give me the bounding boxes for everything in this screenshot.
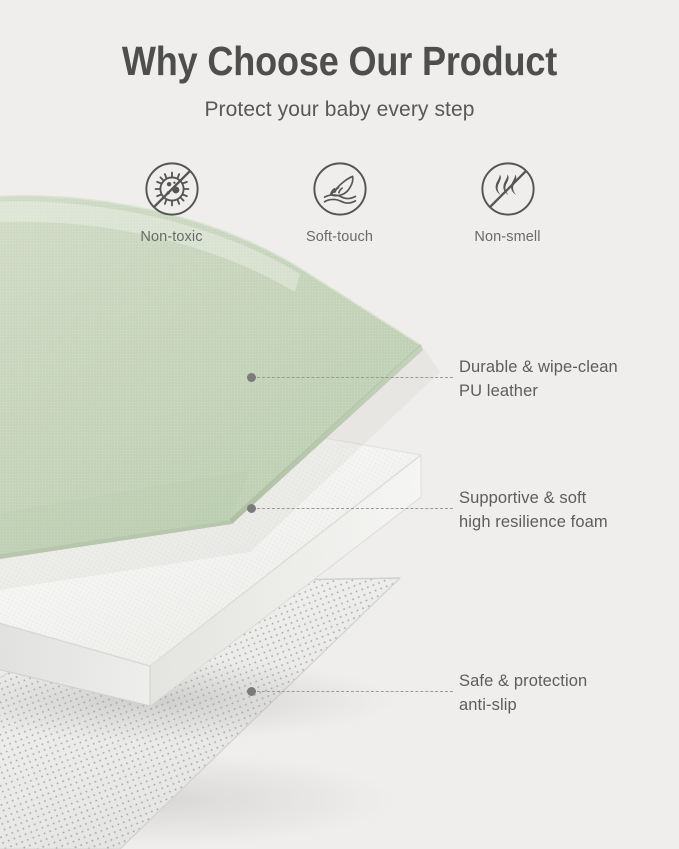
no-odor-icon (479, 160, 537, 218)
page-subtitle: Protect your baby every step (0, 83, 679, 122)
feature-list: Non-toxic Soft-touch (0, 160, 679, 245)
infographic-canvas: Why Choose Our Product Protect your baby… (0, 0, 679, 849)
callout-foam: Supportive & soft high resilience foam (247, 504, 453, 513)
callout-leader-line (257, 691, 453, 692)
callout-line-1: Safe & protection (459, 670, 587, 694)
feature-non-smell: Non-smell (448, 160, 568, 245)
callout-text: Durable & wipe-clean PU leather (459, 356, 618, 404)
callout-line-1: Durable & wipe-clean (459, 356, 618, 380)
callout-text: Supportive & soft high resilience foam (459, 487, 608, 535)
no-germ-icon (143, 160, 201, 218)
feature-non-toxic: Non-toxic (112, 160, 232, 245)
feature-label: Non-smell (474, 229, 540, 245)
feature-label: Soft-touch (306, 229, 373, 245)
callout-anti-slip: Safe & protection anti-slip (247, 687, 453, 696)
feature-soft-touch: Soft-touch (280, 160, 400, 245)
callout-line-2: anti-slip (459, 694, 587, 718)
callout-dot (247, 373, 256, 382)
callout-leader-line (257, 377, 453, 378)
callout-pu-leather: Durable & wipe-clean PU leather (247, 373, 453, 382)
callout-dot (247, 504, 256, 513)
product-layers-illustration (0, 0, 679, 849)
hand-touch-fabric-icon (311, 160, 369, 218)
callout-leader-line (257, 508, 453, 509)
callout-line-1: Supportive & soft (459, 487, 608, 511)
header: Why Choose Our Product Protect your baby… (0, 0, 679, 122)
callout-line-2: PU leather (459, 380, 618, 404)
feature-label: Non-toxic (140, 229, 202, 245)
page-title: Why Choose Our Product (41, 0, 639, 83)
callout-dot (247, 687, 256, 696)
callout-line-2: high resilience foam (459, 511, 608, 535)
callout-text: Safe & protection anti-slip (459, 670, 587, 718)
